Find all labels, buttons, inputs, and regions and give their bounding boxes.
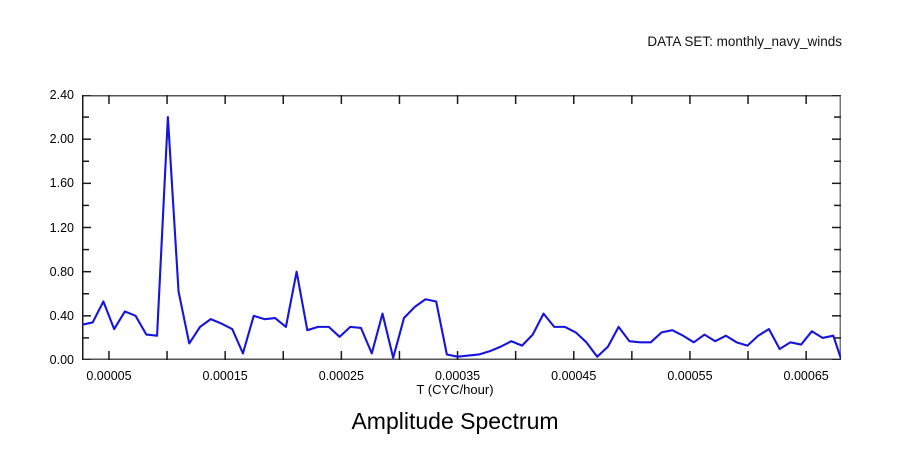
x-tick-label: 0.00025 (296, 369, 386, 383)
x-tick-label: 0.00055 (645, 369, 735, 383)
y-tick-label: 1.20 (30, 221, 74, 235)
y-tick-label: 0.40 (30, 309, 74, 323)
x-tick-label: 0.00005 (64, 369, 154, 383)
x-tick-label: 0.00045 (529, 369, 619, 383)
tick-marks (82, 95, 841, 360)
y-tick-label: 0.80 (30, 265, 74, 279)
chart-svg (82, 95, 841, 360)
y-tick-label: 0.00 (30, 353, 74, 367)
x-tick-label: 0.00065 (761, 369, 851, 383)
y-tick-label: 1.60 (30, 176, 74, 190)
dataset-label: DATA SET: monthly_navy_winds (647, 34, 842, 50)
chart-title: Amplitude Spectrum (0, 408, 910, 435)
y-tick-label: 2.00 (30, 132, 74, 146)
x-tick-label: 0.00035 (413, 369, 503, 383)
axis-frame (82, 95, 841, 360)
data-series-line (82, 117, 841, 359)
x-tick-label: 0.00015 (180, 369, 270, 383)
y-tick-label: 2.40 (30, 88, 74, 102)
plot-area: 0.000.400.801.201.602.002.40 0.000050.00… (82, 95, 841, 360)
x-axis-title: T (CYC/hour) (0, 382, 910, 397)
